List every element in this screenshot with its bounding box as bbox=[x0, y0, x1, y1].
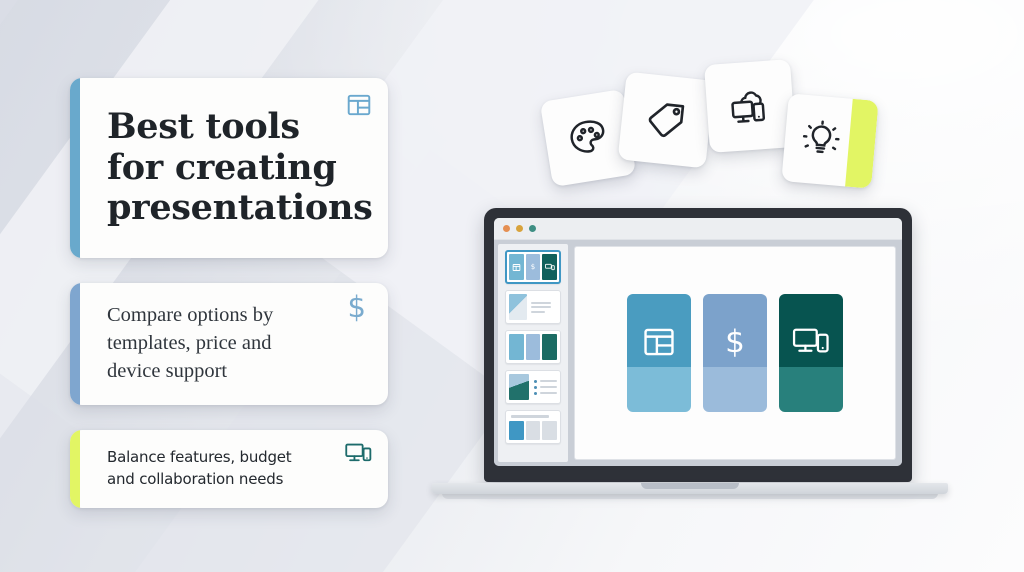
title-card-accent-bar bbox=[70, 78, 80, 258]
dollar-sign-icon: $ bbox=[725, 324, 745, 360]
subtitle-text: Compare options by templates, price and … bbox=[80, 302, 273, 385]
slide-thumbnail-4[interactable] bbox=[505, 370, 561, 404]
tag-icon bbox=[642, 96, 690, 144]
subtitle-card[interactable]: Compare options by templates, price and … bbox=[70, 283, 388, 405]
palette-icon bbox=[563, 113, 613, 163]
maximize-dot[interactable] bbox=[529, 225, 536, 232]
monitor-phone-icon bbox=[345, 442, 372, 471]
laptop-base bbox=[432, 483, 948, 494]
layout-grid-icon bbox=[642, 325, 676, 359]
thumb-tile bbox=[526, 421, 541, 441]
canvas-tile-devices[interactable] bbox=[779, 294, 843, 412]
laptop-illustration: $ bbox=[432, 208, 948, 508]
subtitle-card-accent-bar bbox=[70, 283, 80, 405]
close-dot[interactable] bbox=[503, 225, 510, 232]
thumb-text-lines bbox=[529, 294, 557, 320]
tag-card[interactable] bbox=[618, 72, 715, 169]
note-text: Balance features, budget and collaborati… bbox=[80, 447, 291, 491]
thumb-tile bbox=[542, 421, 557, 441]
laptop-screen: $ bbox=[494, 218, 902, 466]
thumb-tile: $ bbox=[526, 254, 541, 280]
poster-canvas: Best tools for creating presentations Co… bbox=[0, 0, 1024, 572]
thumb-tile bbox=[509, 334, 524, 360]
slide-thumbnail-2[interactable] bbox=[505, 290, 561, 324]
slide-thumbnail-rail[interactable]: $ bbox=[498, 244, 568, 462]
page-title: Best tools for creating presentations bbox=[80, 107, 373, 230]
thumb-tile bbox=[542, 334, 557, 360]
thumb-bullets bbox=[531, 374, 557, 400]
thumb-image bbox=[509, 294, 527, 320]
thumb-tile bbox=[509, 421, 524, 441]
note-card[interactable]: Balance features, budget and collaborati… bbox=[70, 430, 388, 508]
cloud-devices-card[interactable] bbox=[704, 59, 796, 153]
cloud-devices-icon bbox=[725, 81, 774, 130]
slide-thumbnail-1[interactable]: $ bbox=[505, 250, 561, 284]
dollar-sign-icon: $ bbox=[348, 293, 366, 322]
laptop-lid: $ bbox=[484, 208, 912, 482]
thumb-image bbox=[509, 374, 529, 400]
slide-canvas-wrapper: $ bbox=[572, 244, 898, 462]
thumb-tile bbox=[526, 334, 541, 360]
slide-thumbnail-5[interactable] bbox=[505, 410, 561, 444]
monitor-phone-icon bbox=[792, 326, 830, 358]
presentation-app: $ bbox=[494, 240, 902, 466]
window-titlebar bbox=[494, 218, 902, 240]
minimize-dot[interactable] bbox=[516, 225, 523, 232]
thumb-tile bbox=[509, 254, 524, 280]
slide-thumbnail-3[interactable] bbox=[505, 330, 561, 364]
thumb-tile bbox=[542, 254, 557, 280]
canvas-tile-templates[interactable] bbox=[627, 294, 691, 412]
title-card[interactable]: Best tools for creating presentations bbox=[70, 78, 388, 258]
slide-canvas[interactable]: $ bbox=[575, 247, 895, 459]
lightbulb-icon bbox=[798, 117, 844, 163]
lightbulb-card[interactable] bbox=[781, 93, 878, 189]
canvas-tile-price[interactable]: $ bbox=[703, 294, 767, 412]
note-card-accent-bar bbox=[70, 430, 80, 508]
laptop-notch bbox=[641, 483, 739, 489]
layout-grid-icon bbox=[346, 92, 372, 123]
